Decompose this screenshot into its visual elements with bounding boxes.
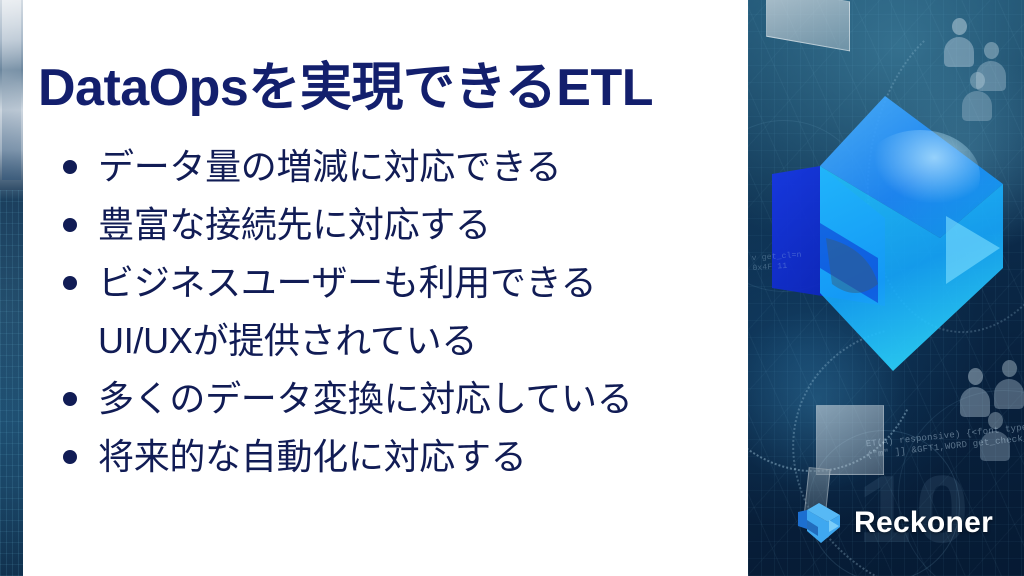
- person-silhouette-icon: [994, 360, 1024, 409]
- list-item: データ量の増減に対応できる: [53, 138, 743, 196]
- slide-content: DataOpsを実現できるETL データ量の増減に対応できる 豊富な接続先に対応…: [23, 0, 748, 576]
- list-item-label: ビジネスユーザーも利用できる: [98, 262, 596, 303]
- brand-image-panel: 10: [748, 0, 1024, 576]
- bullet-dot-icon: [63, 218, 77, 232]
- list-item: 将来的な自動化に対応する: [53, 428, 743, 486]
- bullet-dot-icon: [63, 276, 77, 290]
- reckoner-cube-logo-icon: [796, 500, 842, 546]
- brand-logo-lockup: Reckoner: [796, 500, 993, 546]
- bullet-dot-icon: [63, 450, 77, 464]
- list-item: 豊富な接続先に対応する: [53, 196, 743, 254]
- reckoner-cube-watermark-icon: [760, 88, 1010, 378]
- brand-name: Reckoner: [854, 506, 993, 540]
- bullet-list: データ量の増減に対応できる 豊富な接続先に対応する ビジネスユーザーも利用できる…: [53, 138, 743, 486]
- page-title: DataOpsを実現できるETL: [38, 57, 738, 119]
- list-item: ビジネスユーザーも利用できる UI/UXが提供されている: [53, 254, 743, 370]
- list-item: 多くのデータ変換に対応している: [53, 370, 743, 428]
- left-edge-decoration: [0, 0, 23, 576]
- person-silhouette-icon: [944, 18, 974, 67]
- bullet-dot-icon: [63, 392, 77, 406]
- list-item-label: 多くのデータ変換に対応している: [98, 378, 632, 419]
- list-item-label: 将来的な自動化に対応する: [98, 436, 526, 477]
- slide: DataOpsを実現できるETL データ量の増減に対応できる 豊富な接続先に対応…: [0, 0, 1024, 576]
- person-silhouette-icon: [960, 368, 990, 417]
- list-item-label-continued: UI/UXが提供されている: [98, 312, 743, 370]
- list-item-label: データ量の増減に対応できる: [98, 146, 561, 187]
- list-item-label: 豊富な接続先に対応する: [98, 204, 491, 245]
- bullet-dot-icon: [63, 160, 77, 174]
